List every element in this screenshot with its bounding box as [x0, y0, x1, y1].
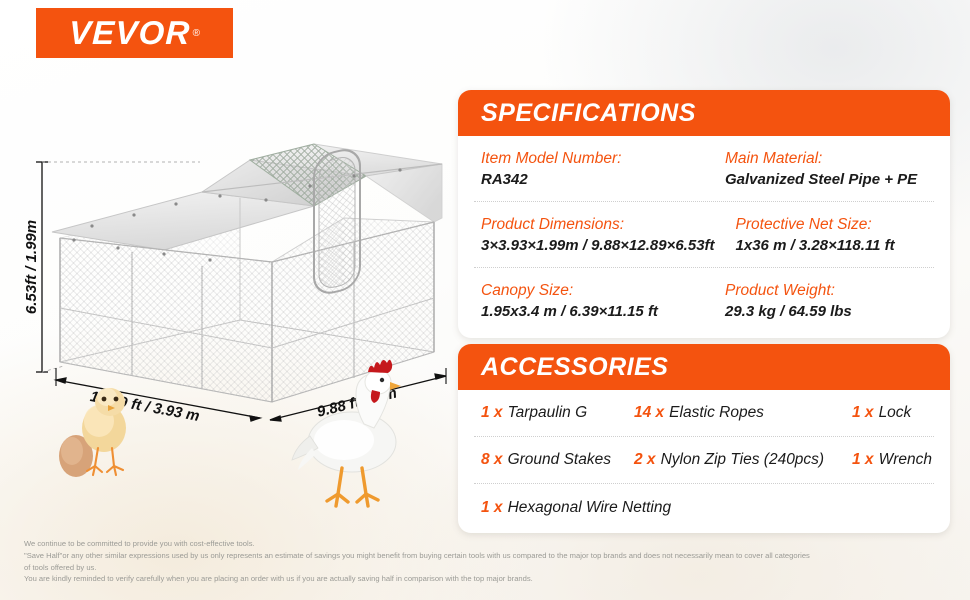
- accessory-qty: 8 x: [481, 451, 503, 469]
- accessory-qty: 1 x: [481, 499, 503, 517]
- accessory-item-elastic-ropes: 14 x Elastic Ropes: [634, 404, 852, 422]
- spec-label: Item Model Number:: [481, 150, 704, 168]
- accessories-header: ACCESSORIES: [458, 344, 950, 390]
- spec-cell-item-model-number: Item Model Number: RA342: [474, 150, 704, 188]
- accessory-item-nylon-zip-ties: 2 x Nylon Zip Ties (240pcs): [634, 451, 852, 469]
- footer-line-1: We continue to be committed to provide y…: [24, 538, 954, 550]
- accessory-qty: 1 x: [852, 451, 874, 469]
- dimension-height-label: 6.53ft / 1.99m: [23, 220, 40, 314]
- accessory-item-lock: 1 x Lock: [852, 404, 911, 422]
- vevor-logo: VEVOR®: [36, 8, 233, 58]
- product-illustration: 6.53ft / 1.99m 12.89 ft / 3.93 m 9.88 ft…: [14, 130, 454, 550]
- spec-row: Product Dimensions: 3×3.93×1.99m / 9.88×…: [474, 202, 934, 268]
- accessory-row: 1 x Tarpaulin G 14 x Elastic Ropes 1 x L…: [474, 390, 934, 437]
- specifications-header: SPECIFICATIONS: [458, 90, 950, 136]
- accessory-name: Tarpaulin G: [508, 404, 588, 422]
- specifications-panel: SPECIFICATIONS Item Model Number: RA342 …: [458, 90, 950, 338]
- accessory-name: Elastic Ropes: [669, 404, 764, 422]
- spec-value: 29.3 kg / 64.59 lbs: [725, 303, 934, 320]
- accessory-item-ground-stakes: 8 x Ground Stakes: [474, 451, 634, 469]
- spec-value: 1x36 m / 3.28×118.11 ft: [736, 237, 945, 254]
- footer-line-3: of tools offered by us.: [24, 562, 954, 574]
- accessories-title: ACCESSORIES: [481, 353, 668, 382]
- spec-cell-canopy-size: Canopy Size: 1.95x3.4 m / 6.39×11.15 ft: [474, 282, 704, 320]
- accessory-item-tarpaulin: 1 x Tarpaulin G: [474, 404, 634, 422]
- spec-label: Protective Net Size:: [736, 216, 945, 234]
- accessory-qty: 14 x: [634, 404, 664, 422]
- accessory-name: Wrench: [879, 451, 932, 469]
- spec-label: Product Dimensions:: [481, 216, 715, 234]
- spec-row: Canopy Size: 1.95x3.4 m / 6.39×11.15 ft …: [474, 268, 934, 334]
- specifications-title: SPECIFICATIONS: [481, 99, 696, 128]
- spec-value: 3×3.93×1.99m / 9.88×12.89×6.53ft: [481, 237, 715, 254]
- spec-value: 1.95x3.4 m / 6.39×11.15 ft: [481, 303, 704, 320]
- accessories-panel: ACCESSORIES 1 x Tarpaulin G 14 x Elastic…: [458, 344, 950, 533]
- accessory-qty: 1 x: [852, 404, 874, 422]
- product-spec-infographic: VEVOR®: [0, 0, 970, 600]
- accessory-row: 8 x Ground Stakes 2 x Nylon Zip Ties (24…: [474, 437, 934, 484]
- spec-label: Product Weight:: [725, 282, 934, 300]
- footer-line-2: "Save Half"or any other similar expressi…: [24, 550, 954, 562]
- accessories-body: 1 x Tarpaulin G 14 x Elastic Ropes 1 x L…: [458, 390, 950, 531]
- registered-mark-icon: ®: [193, 28, 200, 39]
- accessory-item-hexagonal-wire-netting: 1 x Hexagonal Wire Netting: [474, 499, 671, 517]
- footer-line-4: You are kindly reminded to verify carefu…: [24, 573, 954, 585]
- spec-cell-product-weight: Product Weight: 29.3 kg / 64.59 lbs: [704, 282, 934, 320]
- accessory-qty: 1 x: [481, 404, 503, 422]
- accessory-row: 1 x Hexagonal Wire Netting: [474, 484, 934, 531]
- accessory-name: Lock: [879, 404, 912, 422]
- spec-value: RA342: [481, 171, 704, 188]
- accessory-name: Ground Stakes: [508, 451, 611, 469]
- spec-value: Galvanized Steel Pipe + PE: [725, 171, 934, 188]
- specifications-body: Item Model Number: RA342 Main Material: …: [458, 136, 950, 334]
- accessory-name: Hexagonal Wire Netting: [508, 499, 672, 517]
- spec-cell-product-dimensions: Product Dimensions: 3×3.93×1.99m / 9.88×…: [474, 216, 715, 254]
- accessory-item-wrench: 1 x Wrench: [852, 451, 932, 469]
- spec-row: Item Model Number: RA342 Main Material: …: [474, 136, 934, 202]
- spec-label: Canopy Size:: [481, 282, 704, 300]
- footer-disclaimer: We continue to be committed to provide y…: [24, 538, 954, 585]
- brand-name: VEVOR: [68, 14, 191, 52]
- spec-label: Main Material:: [725, 150, 934, 168]
- accessory-name: Nylon Zip Ties (240pcs): [661, 451, 825, 469]
- spec-cell-protective-net-size: Protective Net Size: 1x36 m / 3.28×118.1…: [715, 216, 945, 254]
- spec-cell-main-material: Main Material: Galvanized Steel Pipe + P…: [704, 150, 934, 188]
- accessory-qty: 2 x: [634, 451, 656, 469]
